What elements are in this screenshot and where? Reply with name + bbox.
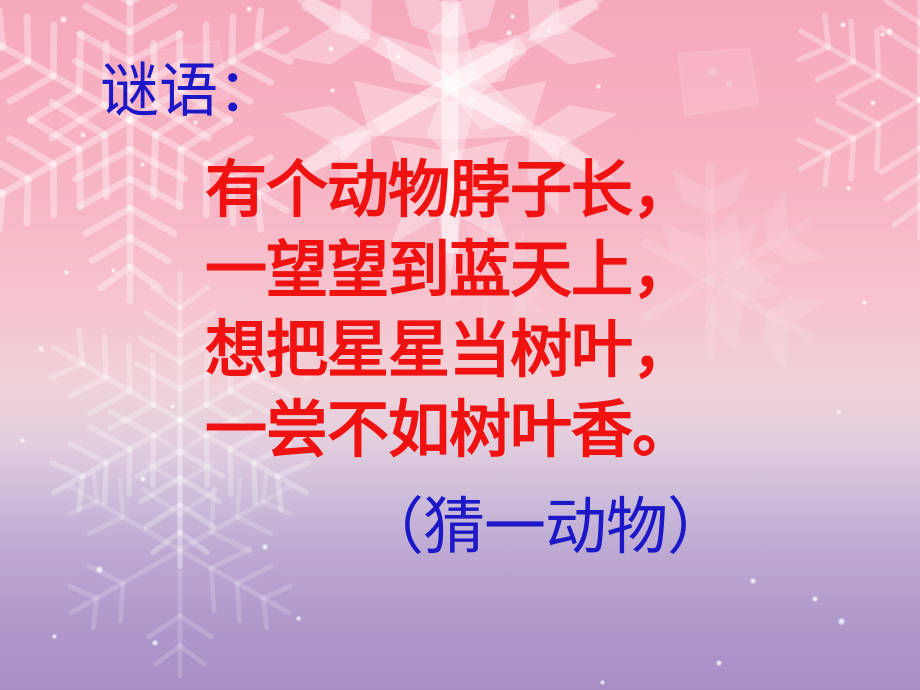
slide-text-layer: 谜语： 有个动物脖子长， 一望望到蓝天上， 想把星星当树叶， 一尝不如树叶香。 … (0, 0, 920, 690)
riddle-line: 一望望到蓝天上， (205, 230, 805, 310)
riddle-line: 有个动物脖子长， (205, 150, 805, 230)
riddle-line: 想把星星当树叶， (205, 310, 805, 390)
riddle-body: 有个动物脖子长， 一望望到蓝天上， 想把星星当树叶， 一尝不如树叶香。 (205, 150, 805, 470)
slide-canvas: 谜语： 有个动物脖子长， 一望望到蓝天上， 想把星星当树叶， 一尝不如树叶香。 … (0, 0, 920, 690)
riddle-line: 一尝不如树叶香。 (205, 390, 805, 470)
riddle-answer-hint: （猜一动物） (362, 487, 728, 567)
riddle-title: 谜语： (100, 60, 277, 122)
